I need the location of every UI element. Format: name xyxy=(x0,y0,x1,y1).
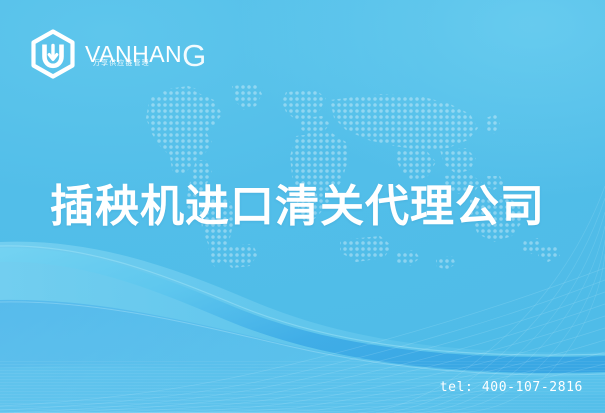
poster-canvas: VANHANG 万享供应链管理 插秧机进口清关代理公司 tel: 400-107… xyxy=(0,0,605,413)
page-title: 插秧机进口清关代理公司 xyxy=(50,180,570,234)
brand-name-en-tail: G xyxy=(182,38,207,73)
brand-name-cn: 万享供应链管理 xyxy=(93,59,150,68)
hexagon-v-mark-icon xyxy=(30,29,76,79)
brand-logo[interactable]: VANHANG 万享供应链管理 xyxy=(30,29,85,79)
contact-phone: tel: 400-107-2816 xyxy=(440,380,583,395)
